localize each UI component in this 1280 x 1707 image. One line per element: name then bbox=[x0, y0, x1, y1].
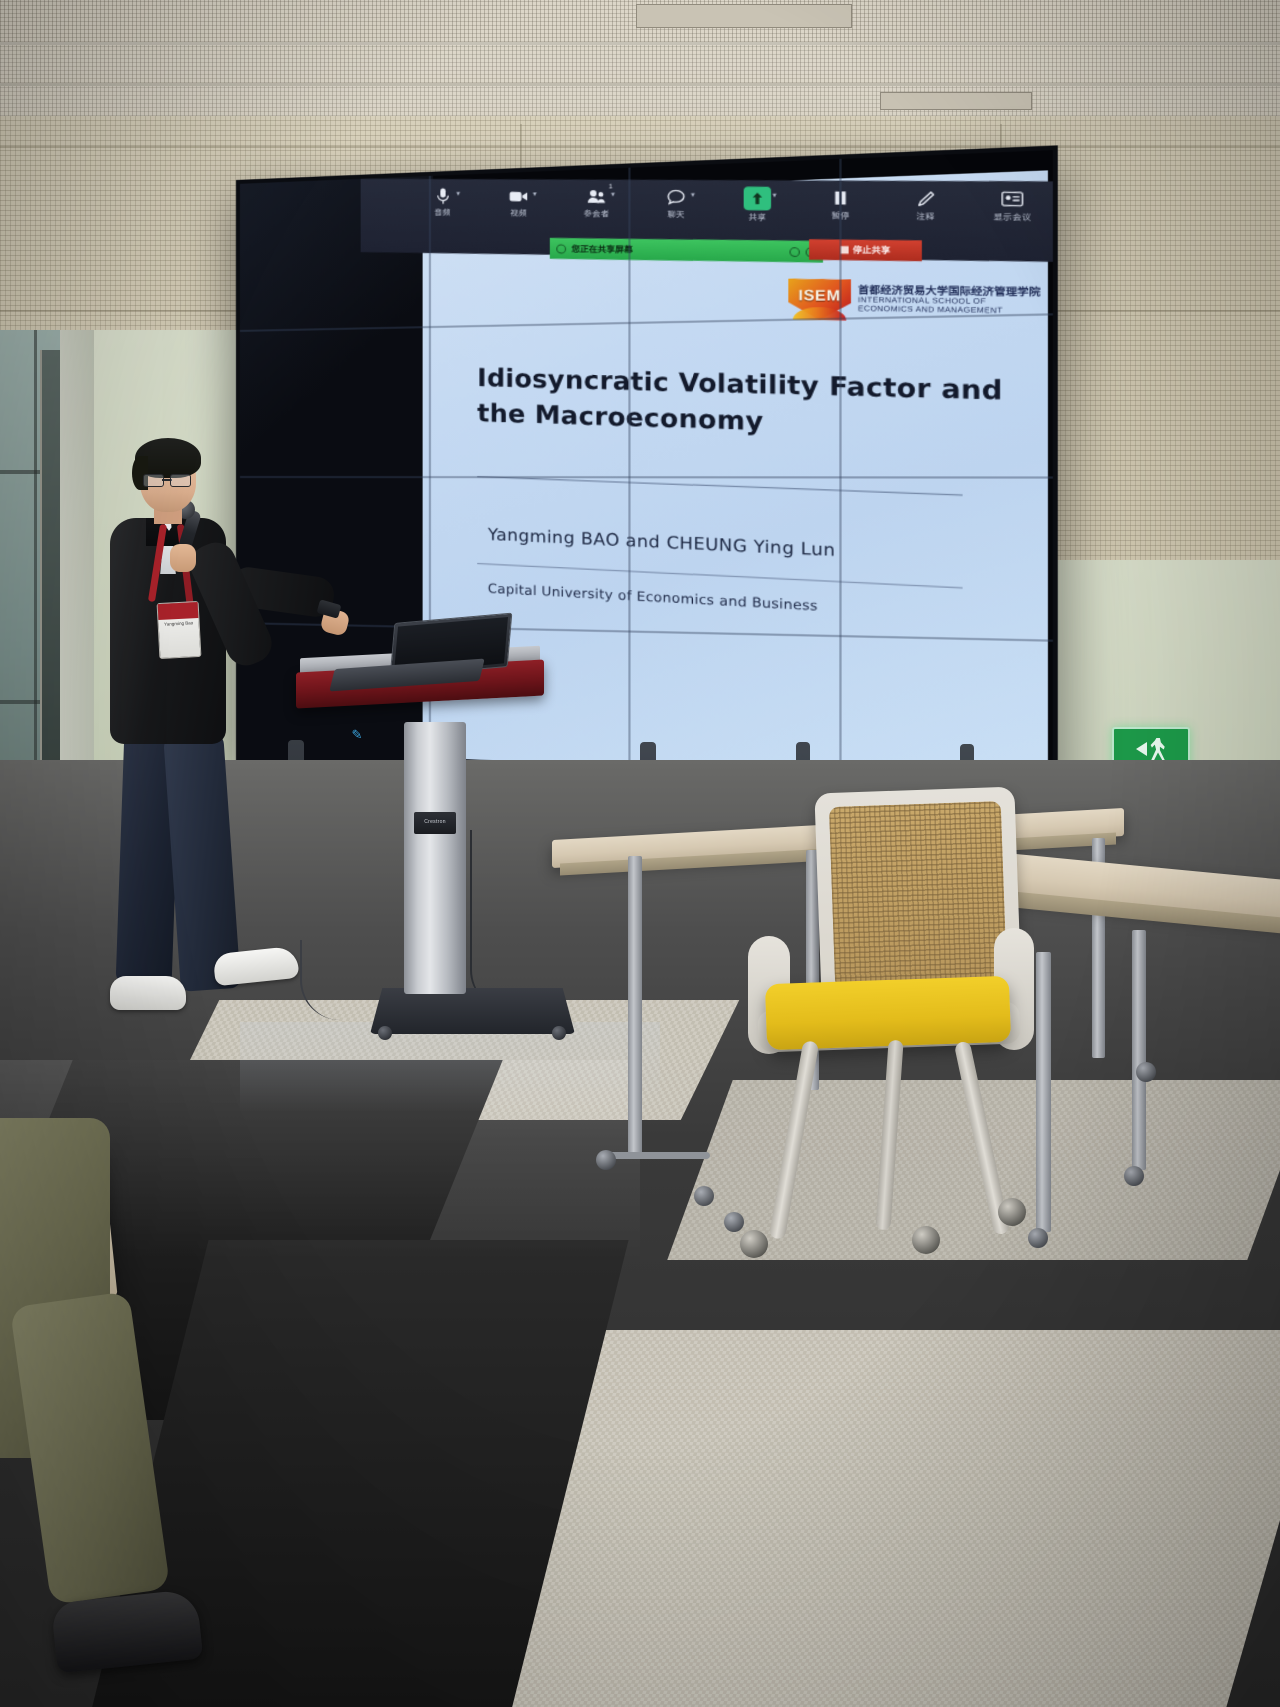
conference-room-photo: ISEM 首都经济贸易大学国际经济管理学院 INTERNATIONAL SCHO… bbox=[0, 0, 1280, 1707]
presenter-hand-left bbox=[170, 544, 196, 572]
ceiling-vent bbox=[880, 92, 1032, 110]
toolbar-label-annotate: 注释 bbox=[916, 210, 935, 222]
pencil-annotate-icon bbox=[912, 187, 938, 209]
toolbar-label-chat: 聊天 bbox=[667, 209, 684, 221]
isem-wordmark: ISEM bbox=[791, 286, 849, 304]
chair-caster bbox=[998, 1198, 1026, 1226]
sharing-indicator-icon bbox=[556, 244, 566, 254]
toolbar-button-annotate[interactable]: 注释 bbox=[898, 181, 953, 223]
display-meeting-icon bbox=[999, 188, 1026, 210]
chair-caster bbox=[912, 1226, 940, 1254]
toolbar-label-audio: 音频 bbox=[434, 207, 450, 218]
presenter-shoe-left bbox=[110, 976, 186, 1010]
presenter-name-badge: Yangming Bao bbox=[157, 601, 202, 659]
foreground-person-shoe bbox=[51, 1589, 204, 1674]
toolbar-button-participants[interactable]: 参会者 1 ▾ bbox=[571, 180, 621, 220]
toolbar-label-video: 视频 bbox=[510, 207, 527, 219]
isem-logo-icon: ISEM bbox=[788, 279, 851, 321]
chair-mesh-panel bbox=[829, 801, 1007, 989]
toolbar-label-display-meeting: 显示会议 bbox=[993, 211, 1031, 224]
chair-leg bbox=[875, 1040, 903, 1231]
table-foot bbox=[600, 1152, 710, 1159]
ceiling-vent bbox=[636, 4, 852, 28]
table-leg bbox=[628, 856, 642, 1156]
wall-seam bbox=[0, 146, 1280, 148]
podium-caster bbox=[378, 1026, 392, 1040]
stop-square-icon bbox=[840, 246, 848, 254]
chair-caster bbox=[740, 1230, 768, 1258]
chair-backrest bbox=[814, 787, 1021, 1004]
toolbar-label-pause: 暂停 bbox=[831, 210, 849, 222]
slide-affiliation: Capital University of Economics and Busi… bbox=[488, 580, 818, 614]
badge-header-band bbox=[158, 602, 199, 620]
toolbar-button-share[interactable]: 共享 ▾ bbox=[731, 180, 784, 223]
toolbar-label-share: 共享 bbox=[748, 211, 766, 223]
ceiling-grille-panel bbox=[0, 86, 1280, 120]
sharing-status-bar: 您正在共享屏幕 bbox=[550, 238, 823, 263]
slide-logo-block: ISEM 首都经济贸易大学国际经济管理学院 INTERNATIONAL SCHO… bbox=[788, 279, 1040, 324]
floor-cable bbox=[470, 830, 532, 1010]
sharing-status-text: 您正在共享屏幕 bbox=[571, 243, 632, 255]
podium-column bbox=[404, 722, 466, 994]
chair-leg bbox=[769, 1040, 819, 1240]
chevron-down-icon[interactable]: ▾ bbox=[611, 190, 615, 198]
chat-bubble-icon bbox=[664, 186, 689, 207]
pause-icon bbox=[828, 187, 854, 209]
slide-authors: Yangming BAO and CHEUNG Ying Lun bbox=[488, 524, 836, 560]
table-caster bbox=[694, 1186, 714, 1206]
chevron-down-icon[interactable]: ▾ bbox=[691, 191, 695, 200]
toolbar-button-pause[interactable]: 暂停 bbox=[814, 180, 868, 222]
share-screen-icon bbox=[744, 187, 771, 211]
sharing-mute-icon[interactable] bbox=[789, 247, 799, 257]
running-man-icon bbox=[1150, 738, 1166, 760]
university-name-en-line2: ECONOMICS AND MANAGEMENT bbox=[858, 306, 1041, 317]
participants-icon bbox=[585, 186, 609, 207]
microphone-icon bbox=[431, 185, 454, 206]
table-caster bbox=[724, 1212, 744, 1232]
university-name-block: 首都经济贸易大学国际经济管理学院 INTERNATIONAL SCHOOL OF… bbox=[858, 286, 1041, 317]
slide-divider bbox=[477, 476, 962, 496]
toolbar-button-chat[interactable]: 聊天 ▾ bbox=[650, 180, 701, 221]
exit-arrow-icon bbox=[1136, 742, 1147, 756]
podium-brand-text: Crestron bbox=[414, 812, 456, 825]
chair-seat-cushion bbox=[765, 976, 1011, 1050]
table-caster bbox=[596, 1150, 616, 1170]
chevron-down-icon[interactable]: ▾ bbox=[772, 191, 776, 200]
podium-logo-icon: ✎ bbox=[344, 726, 370, 744]
badge-name-text: Yangming Bao bbox=[161, 620, 197, 628]
presenter: Yangming Bao bbox=[96, 444, 316, 1084]
office-chair[interactable] bbox=[742, 790, 1142, 1380]
toolbar-label-participants: 参会者 bbox=[584, 208, 610, 220]
camera-icon bbox=[507, 186, 531, 207]
ceiling-grille-panel bbox=[0, 45, 1280, 83]
foreground-person-leg bbox=[10, 1291, 171, 1605]
eyeglasses-icon bbox=[143, 474, 191, 485]
toolbar-button-video[interactable]: 视频 ▾ bbox=[494, 179, 543, 219]
chevron-down-icon[interactable]: ▾ bbox=[456, 189, 460, 197]
podium-brand-plate: Crestron bbox=[414, 812, 456, 834]
toolbar-button-audio[interactable]: 音频 ▾ bbox=[418, 179, 466, 218]
podium-base bbox=[370, 988, 575, 1034]
slide-title: Idiosyncratic Volatility Factor and the … bbox=[477, 360, 1011, 447]
stop-share-button[interactable]: 停止共享 bbox=[809, 239, 922, 261]
chevron-down-icon[interactable]: ▾ bbox=[533, 190, 537, 198]
stop-share-label: 停止共享 bbox=[853, 244, 891, 256]
toolbar-button-display-meeting[interactable]: 显示会议 bbox=[984, 181, 1040, 224]
foreground-person bbox=[0, 1118, 220, 1707]
podium-caster bbox=[552, 1026, 566, 1040]
